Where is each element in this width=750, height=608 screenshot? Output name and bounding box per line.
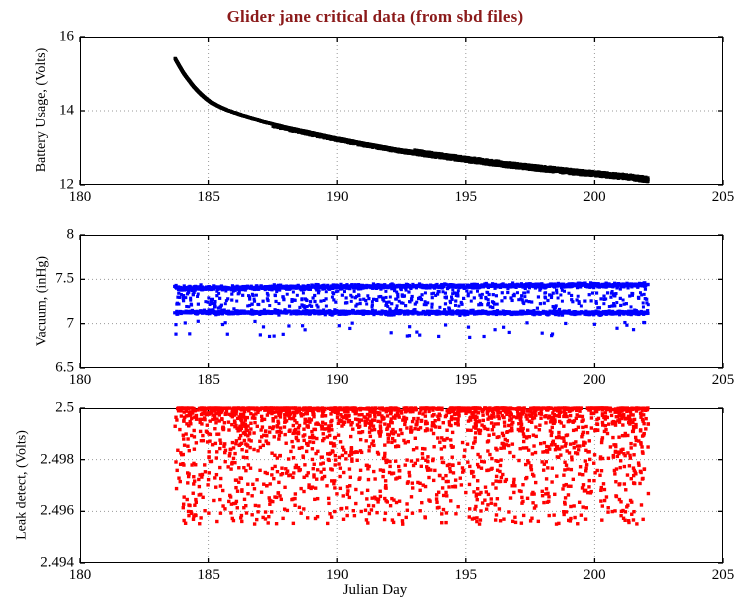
y-tick-label: 2.5 [12, 400, 74, 417]
battery-usage-plot [80, 37, 723, 185]
y-tick-label: 7.5 [12, 271, 74, 288]
y-tick-label: 2.494 [12, 555, 74, 572]
x-tick-label: 200 [583, 189, 606, 206]
x-tick-label: 205 [712, 189, 735, 206]
y-tick-label: 8 [12, 227, 74, 244]
x-tick-label: 195 [455, 372, 478, 389]
x-tick-label: 190 [326, 189, 349, 206]
y-tick-label: 2.498 [12, 451, 74, 468]
figure-title: Glider jane critical data (from sbd file… [0, 7, 750, 27]
x-tick-label: 195 [455, 189, 478, 206]
y-tick-label: 6.5 [12, 360, 74, 377]
y-tick-label: 16 [12, 29, 74, 46]
x-tick-label: 185 [197, 372, 220, 389]
x-tick-label: 180 [69, 372, 92, 389]
x-tick-label: 205 [712, 372, 735, 389]
leak-data-layer [80, 408, 723, 563]
x-tick-label: 200 [583, 372, 606, 389]
vacuum-data-layer [80, 235, 723, 368]
x-axis-label: Julian Day [0, 582, 750, 599]
x-tick-label: 180 [69, 189, 92, 206]
leak-detect-plot [80, 408, 723, 563]
y-tick-label: 2.496 [12, 503, 74, 520]
y-tick-label: 7 [12, 315, 74, 332]
battery-data-layer [80, 37, 723, 185]
y-tick-label: 12 [12, 177, 74, 194]
x-tick-label: 190 [326, 372, 349, 389]
x-tick-label: 185 [197, 189, 220, 206]
figure-canvas: Glider jane critical data (from sbd file… [0, 0, 750, 608]
vacuum-plot [80, 235, 723, 368]
y-tick-label: 14 [12, 103, 74, 120]
